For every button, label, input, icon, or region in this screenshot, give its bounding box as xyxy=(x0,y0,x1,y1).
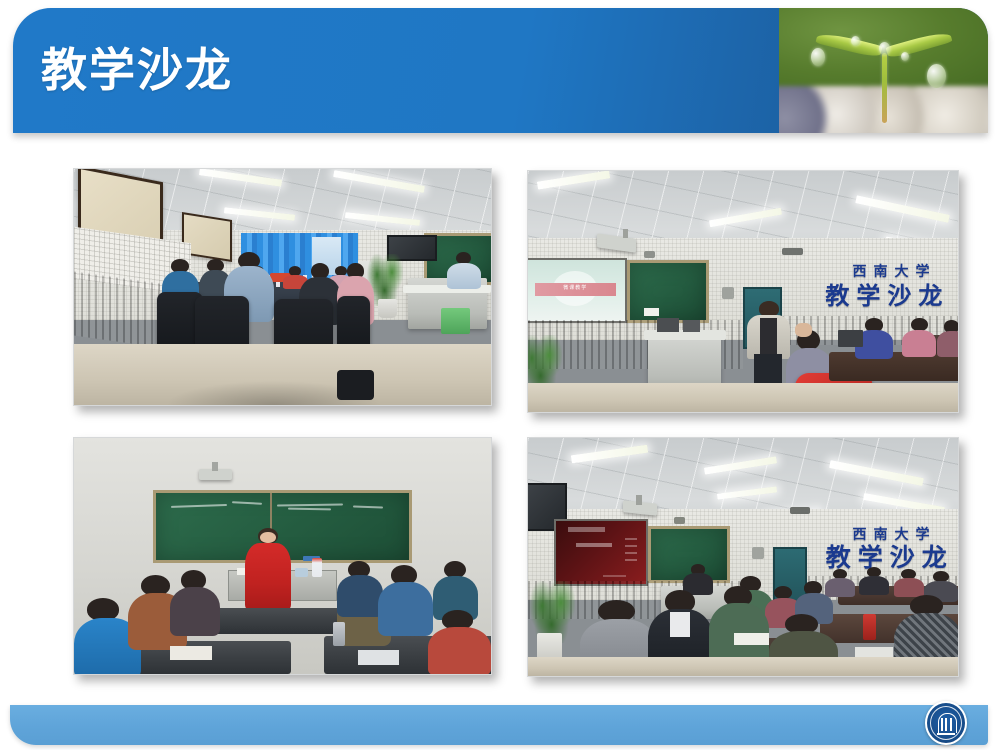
photo-large-classroom-audience: 西南大学 教学沙龙 xyxy=(527,437,959,677)
attendee-body xyxy=(859,576,889,595)
plant-pot xyxy=(378,299,397,318)
attendee xyxy=(428,610,491,675)
photo-2-scene: 西南大学 教学沙龙 微课教学 xyxy=(528,171,958,412)
presenter-female xyxy=(245,528,291,611)
speaker-body xyxy=(447,263,482,289)
presenter-red-dress xyxy=(245,543,291,611)
notebook xyxy=(358,650,400,664)
water-bottle xyxy=(312,558,322,577)
screen-title-text xyxy=(568,527,604,532)
seal-pillar xyxy=(950,718,952,731)
attendee xyxy=(937,320,960,356)
ceiling-speaker xyxy=(790,507,809,514)
attendee-body xyxy=(902,330,936,357)
wall-text-university: 西南大学 xyxy=(853,265,937,279)
attendee-body xyxy=(337,575,383,617)
equipment-box xyxy=(657,318,679,332)
banner-photo-dewdrop xyxy=(879,42,890,55)
photo-classroom-female-presenter xyxy=(73,437,492,675)
projection-screen xyxy=(554,519,649,586)
footer-bar xyxy=(10,705,988,745)
screen-body-text xyxy=(576,543,612,547)
projector-mount xyxy=(623,229,628,239)
screen-footer-text xyxy=(603,575,627,578)
attendee xyxy=(170,570,220,636)
banner-photo-dewdrop xyxy=(851,36,860,46)
chalk-writing xyxy=(277,503,343,506)
seal-base-line xyxy=(937,733,955,735)
chalk-writing xyxy=(353,506,383,509)
banner-photo-dewdrop xyxy=(927,64,946,88)
floor xyxy=(528,657,958,676)
attendee-body xyxy=(170,587,220,636)
university-seal-logo xyxy=(925,701,967,745)
seal-pillar xyxy=(945,718,947,731)
thermos xyxy=(333,622,346,646)
presenter xyxy=(747,301,790,393)
chalk-writing xyxy=(171,504,227,508)
banner-photo-stem xyxy=(882,53,887,123)
wall-text-salon: 教学沙龙 xyxy=(825,284,949,308)
raised-hand xyxy=(795,323,812,337)
red-thermos xyxy=(863,614,876,640)
attendee-body xyxy=(378,582,432,636)
seal-gate-arch xyxy=(938,713,957,733)
chair xyxy=(337,296,370,350)
attendee-shirt xyxy=(670,612,689,638)
banner-photo-dewdrop xyxy=(901,52,909,61)
attendee xyxy=(709,586,769,667)
chalk-writing xyxy=(288,507,331,510)
bag xyxy=(337,370,375,401)
attendee-body xyxy=(937,331,960,356)
seal-pillar xyxy=(941,718,943,731)
wall-speaker xyxy=(752,547,765,559)
attendee xyxy=(894,569,924,598)
projector-mount xyxy=(212,462,218,471)
presenter-shirt xyxy=(760,318,777,356)
projector-mount xyxy=(636,495,642,505)
ceiling-speaker xyxy=(674,517,685,524)
ceiling-speaker xyxy=(644,251,655,258)
wall-text-university: 西南大学 xyxy=(853,528,937,542)
attendee xyxy=(902,318,936,357)
notebook xyxy=(170,646,212,660)
title-banner: 教学沙龙 xyxy=(13,8,988,133)
equipment-box xyxy=(683,320,700,332)
chalk-writing xyxy=(232,502,262,506)
cup xyxy=(295,568,308,577)
ceiling-speaker xyxy=(782,248,804,255)
attendee-body xyxy=(428,627,491,675)
floor xyxy=(528,383,958,412)
photo-1-scene xyxy=(74,169,491,405)
photo-classroom-presenter-micro-lecture: 西南大学 教学沙龙 微课教学 xyxy=(527,170,959,413)
banner-seedling-photo xyxy=(779,8,988,133)
laptop xyxy=(838,330,864,347)
projection-screen: 微课教学 xyxy=(527,258,627,323)
presenter-face xyxy=(260,532,276,543)
attendee xyxy=(337,561,383,618)
slide-title-text: 微课教学 xyxy=(527,284,625,291)
chalkboard-card xyxy=(644,308,659,315)
notebook xyxy=(734,633,768,645)
attendee xyxy=(378,565,432,636)
chalkboard xyxy=(627,260,709,323)
photo-seminar-room-round-table xyxy=(73,168,492,406)
photo-4-scene: 西南大学 教学沙龙 xyxy=(528,438,958,676)
screen-side-text xyxy=(625,536,638,561)
wall-text-salon: 教学沙龙 xyxy=(826,545,954,570)
stool xyxy=(441,308,470,334)
page-title: 教学沙龙 xyxy=(41,47,233,93)
speaker xyxy=(445,252,483,290)
attendee xyxy=(859,567,889,596)
photo-3-scene xyxy=(74,438,491,674)
wall-speaker xyxy=(722,287,735,299)
banner-photo-dewdrop xyxy=(811,48,825,66)
